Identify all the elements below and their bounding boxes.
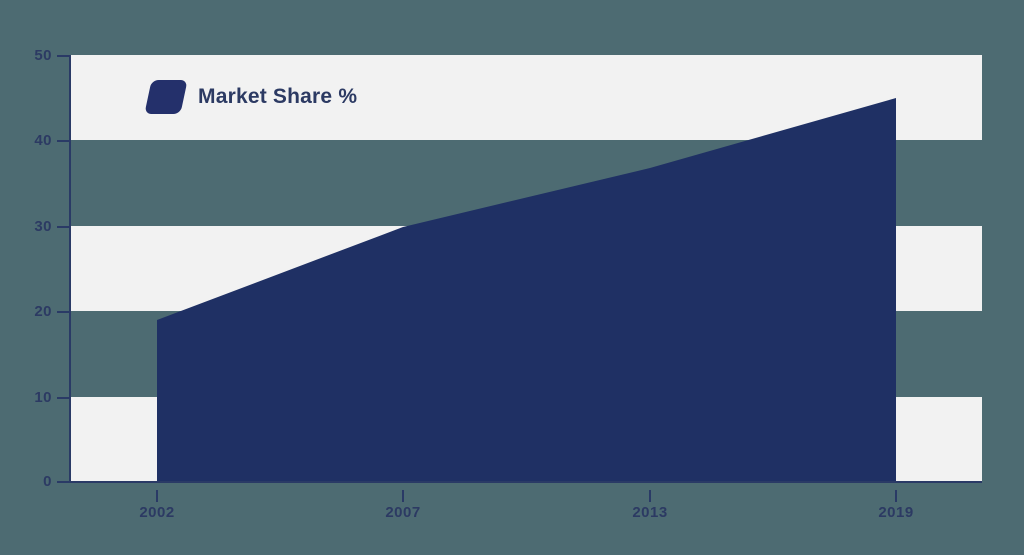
x-tick-mark-2002 <box>156 490 158 502</box>
x-tick-label-2002: 2002 <box>117 504 197 521</box>
y-tick-mark-30 <box>57 226 69 228</box>
x-axis-line <box>69 481 982 483</box>
x-tick-mark-2013 <box>649 490 651 502</box>
x-tick-label-2013: 2013 <box>610 504 690 521</box>
y-axis-line <box>69 55 71 483</box>
y-tick-mark-20 <box>57 311 69 313</box>
y-tick-mark-0 <box>57 481 69 483</box>
y-tick-label-40: 40 <box>10 132 52 149</box>
legend-item-label: Market Share % <box>198 85 357 109</box>
y-tick-mark-50 <box>57 55 69 57</box>
x-tick-mark-2007 <box>402 490 404 502</box>
y-tick-label-50: 50 <box>10 47 52 64</box>
y-tick-label-10: 10 <box>10 389 52 406</box>
area-chart: 50 40 30 20 10 0 2002 2007 2013 2019 Mar… <box>0 0 1024 555</box>
y-tick-mark-40 <box>57 140 69 142</box>
y-tick-label-30: 30 <box>10 218 52 235</box>
y-tick-mark-10 <box>57 397 69 399</box>
x-tick-mark-2019 <box>895 490 897 502</box>
x-tick-label-2019: 2019 <box>856 504 936 521</box>
y-tick-label-20: 20 <box>10 303 52 320</box>
market-share-swatch-icon <box>144 80 187 114</box>
y-tick-label-0: 0 <box>10 473 52 490</box>
x-tick-label-2007: 2007 <box>363 504 443 521</box>
chart-legend: Market Share % <box>148 80 357 114</box>
